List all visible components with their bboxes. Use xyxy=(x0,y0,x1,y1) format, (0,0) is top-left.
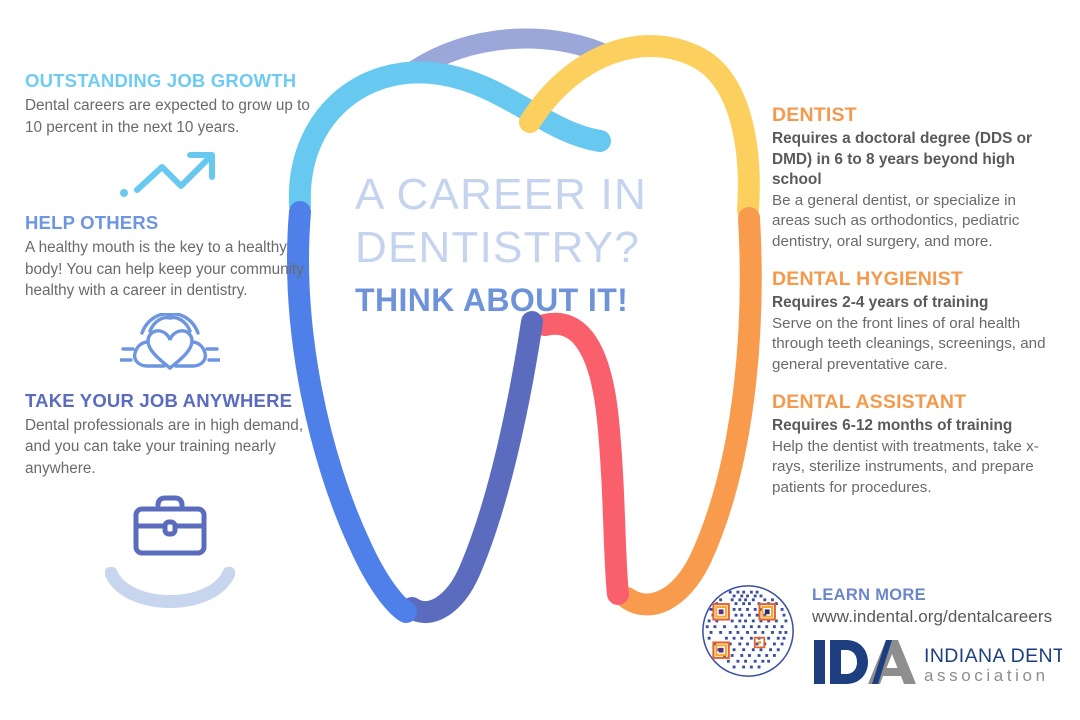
right-heading-dentist: DENTIST xyxy=(772,104,1057,127)
right-body-dentist: Be a general dentist, or specialize in a… xyxy=(772,191,1057,253)
left-column: OUTSTANDING JOB GROWTH Dental careers ar… xyxy=(25,70,315,625)
website-url[interactable]: www.indental.org/dentalcareers xyxy=(812,607,1062,627)
left-body-job-anywhere: Dental professionals are in high demand,… xyxy=(25,415,315,480)
left-heading-job-growth: OUTSTANDING JOB GROWTH xyxy=(25,70,315,92)
left-block-job-anywhere: TAKE YOUR JOB ANYWHERE Dental profession… xyxy=(25,390,315,480)
qr-finder-top-right xyxy=(760,604,775,619)
heart-in-hands-icon xyxy=(120,313,220,375)
right-column: DENTIST Requires a doctoral degree (DDS … xyxy=(772,104,1057,502)
right-block-dentist: DENTIST Requires a doctoral degree (DDS … xyxy=(772,104,1057,252)
right-body-hygienist: Serve on the front lines of oral health … xyxy=(772,314,1057,376)
smile-arc-icon xyxy=(105,567,235,623)
left-block-job-growth: OUTSTANDING JOB GROWTH Dental careers ar… xyxy=(25,70,315,138)
title-cta: THINK ABOUT IT! xyxy=(355,283,715,317)
growth-arrow-icon-wrap xyxy=(25,144,315,206)
tooth-arc-indigo xyxy=(412,322,532,612)
learn-more-block: LEARN MORE www.indental.org/dentalcareer… xyxy=(812,586,1062,627)
right-requirement-hygienist: Requires 2-4 years of training xyxy=(772,293,1057,314)
qr-code-icon[interactable] xyxy=(700,581,796,681)
right-heading-assistant: DENTAL ASSISTANT xyxy=(772,391,1057,414)
smile-arc-icon-wrap xyxy=(25,565,315,625)
ida-name-line2: association xyxy=(924,666,1049,685)
footer-block: LEARN MORE www.indental.org/dentalcareer… xyxy=(700,578,1060,698)
briefcase-icon-wrap xyxy=(25,485,315,565)
left-body-help-others: A healthy mouth is the key to a healthy … xyxy=(25,237,315,302)
growth-arrow-icon xyxy=(115,146,225,204)
left-body-job-growth: Dental careers are expected to grow up t… xyxy=(25,95,315,138)
title-line-1: A CAREER IN xyxy=(355,168,715,221)
briefcase-icon xyxy=(131,492,209,558)
qr-finder-top-left xyxy=(713,604,728,619)
title-line-2: DENTISTRY? xyxy=(355,221,715,274)
right-block-assistant: DENTAL ASSISTANT Requires 6-12 months of… xyxy=(772,391,1057,498)
right-heading-hygienist: DENTAL HYGIENIST xyxy=(772,268,1057,291)
right-requirement-assistant: Requires 6-12 months of training xyxy=(772,416,1057,437)
ida-name-line1: INDIANA DENTAL xyxy=(924,645,1062,667)
left-heading-help-others: HELP OTHERS xyxy=(25,212,315,234)
right-requirement-dentist: Requires a doctoral degree (DDS or DMD) … xyxy=(772,129,1057,191)
heart-in-hands-icon-wrap xyxy=(25,308,315,380)
left-heading-job-anywhere: TAKE YOUR JOB ANYWHERE xyxy=(25,390,315,412)
learn-more-label: LEARN MORE xyxy=(812,586,1062,605)
left-block-help-others: HELP OTHERS A healthy mouth is the key t… xyxy=(25,212,315,302)
ida-logo: INDIANA DENTAL association xyxy=(812,636,1062,688)
qr-finder-bottom-left xyxy=(713,643,728,658)
right-body-assistant: Help the dentist with treatments, take x… xyxy=(772,437,1057,499)
right-block-hygienist: DENTAL HYGIENIST Requires 2-4 years of t… xyxy=(772,268,1057,375)
infographic-canvas: A CAREER IN DENTISTRY? THINK ABOUT IT! O… xyxy=(0,0,1080,720)
center-title-block: A CAREER IN DENTISTRY? THINK ABOUT IT! xyxy=(355,168,715,317)
tooth-arc-coral xyxy=(545,324,618,594)
